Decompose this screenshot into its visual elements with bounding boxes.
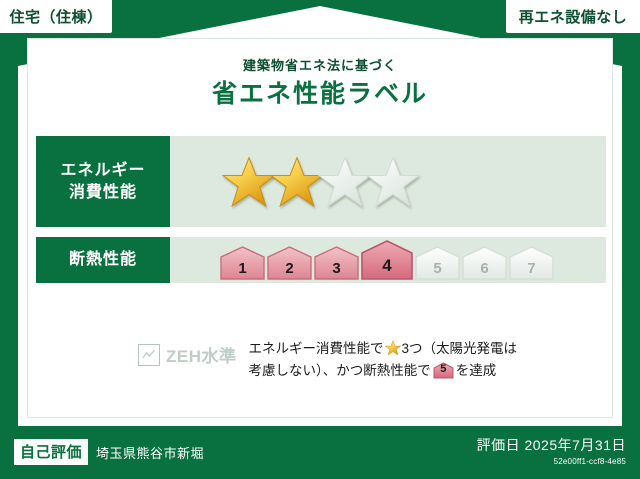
insulation-house-list: 1 2 bbox=[220, 240, 556, 280]
insulation-level-2: 2 bbox=[267, 246, 312, 280]
insulation-level-5: 5 bbox=[415, 246, 460, 280]
zeh-label: ZEH水準 bbox=[166, 342, 237, 367]
energy-performance-label-box: エネルギー 消費性能 bbox=[36, 136, 170, 227]
building-type-badge: 住宅（住棟） bbox=[0, 0, 112, 33]
self-evaluation-badge: 自己評価 bbox=[14, 439, 88, 465]
evaluation-date: 評価日 2025年7月31日 bbox=[477, 435, 626, 455]
insulation-level-6-number: 6 bbox=[462, 260, 507, 277]
building-type-label: 住宅（住棟） bbox=[9, 6, 102, 27]
insulation-level-7-number: 7 bbox=[509, 260, 554, 277]
title-subtitle: 建築物省エネ法に基づく bbox=[0, 58, 640, 74]
zeh-standard-block: ZEH水準 エネルギー消費性能で3つ（太陽光発電は考慮しない）、かつ断熱性能で5… bbox=[138, 338, 521, 382]
insulation-performance-label-box: 断熱性能 bbox=[36, 237, 170, 283]
zeh-checkbox-icon bbox=[138, 344, 160, 366]
inline-house-badge: 5 bbox=[433, 362, 454, 379]
footer-left: 自己評価 埼玉県熊谷市新堀 bbox=[14, 439, 204, 465]
insulation-level-2-number: 2 bbox=[267, 260, 312, 277]
footer: 自己評価 埼玉県熊谷市新堀 評価日 2025年7月31日 52e00ff1-cc… bbox=[0, 426, 640, 479]
energy-performance-label: 住宅（住棟） 再エネ設備なし 建築物省エネ法に基づく 省エネ性能ラベル エネルギ… bbox=[0, 0, 640, 479]
insulation-level-7: 7 bbox=[509, 246, 554, 280]
inline-house-number: 5 bbox=[433, 361, 454, 379]
star-icon-filled-1 bbox=[222, 155, 276, 209]
insulation-level-4-achieved: 4 bbox=[361, 240, 413, 280]
energy-label-line1: エネルギー bbox=[60, 160, 145, 182]
title-main: 省エネ性能ラベル bbox=[0, 78, 640, 111]
star-icon-empty-4 bbox=[366, 155, 420, 209]
star-icon-filled-2 bbox=[270, 155, 324, 209]
energy-performance-row: エネルギー 消費性能 bbox=[36, 136, 606, 227]
energy-star-rating bbox=[170, 136, 606, 227]
zeh-zigzag-icon bbox=[142, 349, 156, 360]
insulation-level-3-number: 3 bbox=[314, 260, 359, 277]
insulation-performance-row: 断熱性能 1 bbox=[36, 237, 606, 283]
property-address: 埼玉県熊谷市新堀 bbox=[96, 443, 204, 462]
rating-rows: エネルギー 消費性能 bbox=[36, 136, 606, 293]
star-icon-empty-3 bbox=[318, 155, 372, 209]
zeh-description: エネルギー消費性能で3つ（太陽光発電は考慮しない）、かつ断熱性能で5を達成 bbox=[249, 338, 521, 382]
footer-right: 評価日 2025年7月31日 52e00ff1-ccf8-4e85 bbox=[477, 435, 626, 466]
zeh-desc-part3: を達成 bbox=[456, 363, 497, 378]
insulation-level-6: 6 bbox=[462, 246, 507, 280]
insulation-label-line1: 断熱性能 bbox=[69, 249, 137, 271]
renewable-energy-label: 再エネ設備なし bbox=[519, 6, 628, 27]
insulation-level-1-number: 1 bbox=[220, 260, 265, 277]
evaluation-id: 52e00ff1-ccf8-4e85 bbox=[477, 457, 626, 466]
zeh-badge: ZEH水準 bbox=[138, 342, 237, 367]
insulation-level-scale: 1 2 bbox=[170, 237, 606, 283]
renewable-energy-badge: 再エネ設備なし bbox=[506, 0, 640, 33]
insulation-level-4-number: 4 bbox=[361, 256, 413, 276]
zeh-desc-star-count: 3つ（太陽光発電 bbox=[402, 341, 504, 356]
inline-star-icon bbox=[385, 340, 401, 356]
insulation-level-1: 1 bbox=[220, 246, 265, 280]
page-title: 建築物省エネ法に基づく 省エネ性能ラベル bbox=[0, 58, 640, 110]
energy-label-line2: 消費性能 bbox=[69, 182, 137, 204]
insulation-level-5-number: 5 bbox=[415, 260, 460, 277]
insulation-level-3: 3 bbox=[314, 246, 359, 280]
zeh-desc-part1: エネルギー消費性能で bbox=[249, 341, 384, 356]
